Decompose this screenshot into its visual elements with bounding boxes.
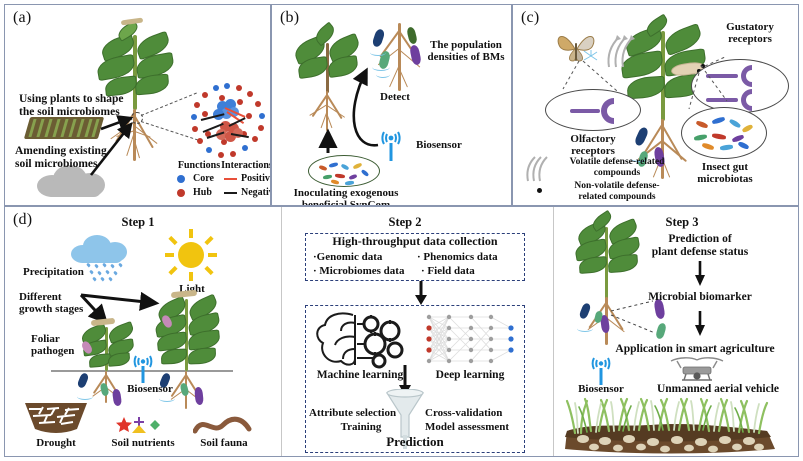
legend-core-dot <box>177 175 185 183</box>
text-growth-stages: Different growth stages <box>19 291 105 316</box>
text-biosensor-d3: Biosensor <box>567 383 635 395</box>
volatile-wave-icon-2 <box>525 155 551 183</box>
text-volatile-compounds: Volatile defense-related compounds <box>555 157 679 178</box>
soil-nutrients-icon <box>115 416 167 434</box>
panel-d-label: (d) <box>13 211 32 229</box>
text-phenomics-data: · Phenomics data <box>417 251 523 263</box>
text-population-densities: The population densities of BMs <box>422 39 510 64</box>
step-1-title: Step 1 <box>83 215 193 229</box>
text-biosensor-d1: Biosensor <box>117 383 183 395</box>
biomarker-bacterium-2 <box>655 322 667 340</box>
text-gustatory-receptors: Gustatory receptors <box>709 21 791 46</box>
panel-a-label: (a) <box>13 9 31 27</box>
text-attribute-selection: Attribute selection <box>309 407 419 419</box>
panel-b-arrows <box>272 5 512 206</box>
text-foliar-pathogen: Foliar pathogen <box>31 333 101 358</box>
text-field-data: · Field data <box>421 265 521 277</box>
seedbed-icon <box>24 117 104 139</box>
syncom-ellipse <box>308 155 380 187</box>
gustatory-receptor-ellipse <box>691 59 789 113</box>
text-soil-fauna: Soil fauna <box>191 437 257 449</box>
legend-interactions-title: Interactions <box>219 160 271 171</box>
legend-positive-line <box>224 178 237 180</box>
deep-learning-icon <box>423 311 517 369</box>
text-inoculating-syncom: Inoculating exogenous beneficial SynCom <box>280 187 412 206</box>
step-divider-2 <box>553 207 554 457</box>
legend-negative-label: Negative <box>241 187 271 198</box>
text-genomic-data: ·Genomic data <box>313 251 417 263</box>
panel-b-label: (b) <box>280 9 299 27</box>
biosensor-icon-d3 <box>589 357 613 385</box>
soil-fauna-worm-icon <box>193 413 253 437</box>
text-cross-validation: Cross-validation <box>425 407 525 419</box>
biosensor-icon-d1 <box>131 355 155 383</box>
olfactory-receptor-ellipse <box>545 89 641 131</box>
text-olfactory-receptors: Olfactory receptors <box>547 133 639 158</box>
sun-icon <box>165 229 217 281</box>
text-prediction: Prediction <box>305 435 525 450</box>
text-detect: Detect <box>370 91 420 103</box>
panel-c: (c) <box>512 4 799 206</box>
text-microbial-biomarker: Microbial biomarker <box>625 291 775 304</box>
text-amending: Amending existing soil microbiomes <box>15 145 150 171</box>
precipitation-icon <box>71 233 129 265</box>
step-3-title: Step 3 <box>627 215 737 229</box>
text-application-smart-agriculture: Application in smart agriculture <box>595 343 795 356</box>
drought-icon <box>25 403 87 435</box>
step3-arrow-1 <box>685 261 715 287</box>
volatile-wave-icon-1 <box>605 33 639 69</box>
text-prediction-status: Prediction of plant defense status <box>633 233 767 259</box>
legend-functions-title: Functions <box>173 160 225 171</box>
text-soil-nutrients: Soil nutrients <box>103 437 183 449</box>
crop-field-illustration <box>561 397 791 455</box>
text-model-assessment: Model assessment <box>425 421 527 433</box>
text-uav: Unmanned aerial vehicle <box>639 383 797 396</box>
step-2-title: Step 2 <box>345 215 465 229</box>
volatile-burst-icon <box>583 49 599 61</box>
panel-c-label: (c) <box>521 9 539 27</box>
uav-drone-icon <box>669 357 725 383</box>
step-divider-1 <box>281 207 282 457</box>
text-microbiomes-data: · Microbiomes data <box>313 265 423 277</box>
panel-d: (d) Step 1 <box>4 206 799 457</box>
step2-arrow-down <box>401 281 441 305</box>
text-deep-learning: Deep learning <box>423 369 517 382</box>
text-using-plants: Using plants to shape the soil microbiom… <box>19 93 154 119</box>
text-training: Training <box>309 421 413 433</box>
text-precipitation: Precipitation <box>23 266 103 278</box>
nonvolatile-dot-icon <box>537 188 542 193</box>
machine-learning-icon <box>313 311 409 369</box>
legend-hub-dot <box>177 189 185 197</box>
insect-gut-microbiota-ellipse <box>681 107 767 159</box>
text-insect-gut-microbiotas: Insect gut microbiotas <box>681 161 769 186</box>
text-biosensor-b: Biosensor <box>416 139 486 151</box>
text-nonvolatile-compounds: Non-volatile defense- related compounds <box>555 181 679 202</box>
text-drought: Drought <box>23 437 89 449</box>
legend-positive-label: Positive <box>241 173 271 184</box>
panel-a: (a) <box>4 4 271 206</box>
figure-root: (a) <box>0 0 803 461</box>
legend-negative-line <box>224 192 237 194</box>
panel-b: (b) <box>271 4 512 206</box>
step3-arrow-2 <box>685 311 715 337</box>
biosensor-icon-b <box>378 131 404 161</box>
text-collection-title: High-throughput data collection <box>305 235 525 248</box>
